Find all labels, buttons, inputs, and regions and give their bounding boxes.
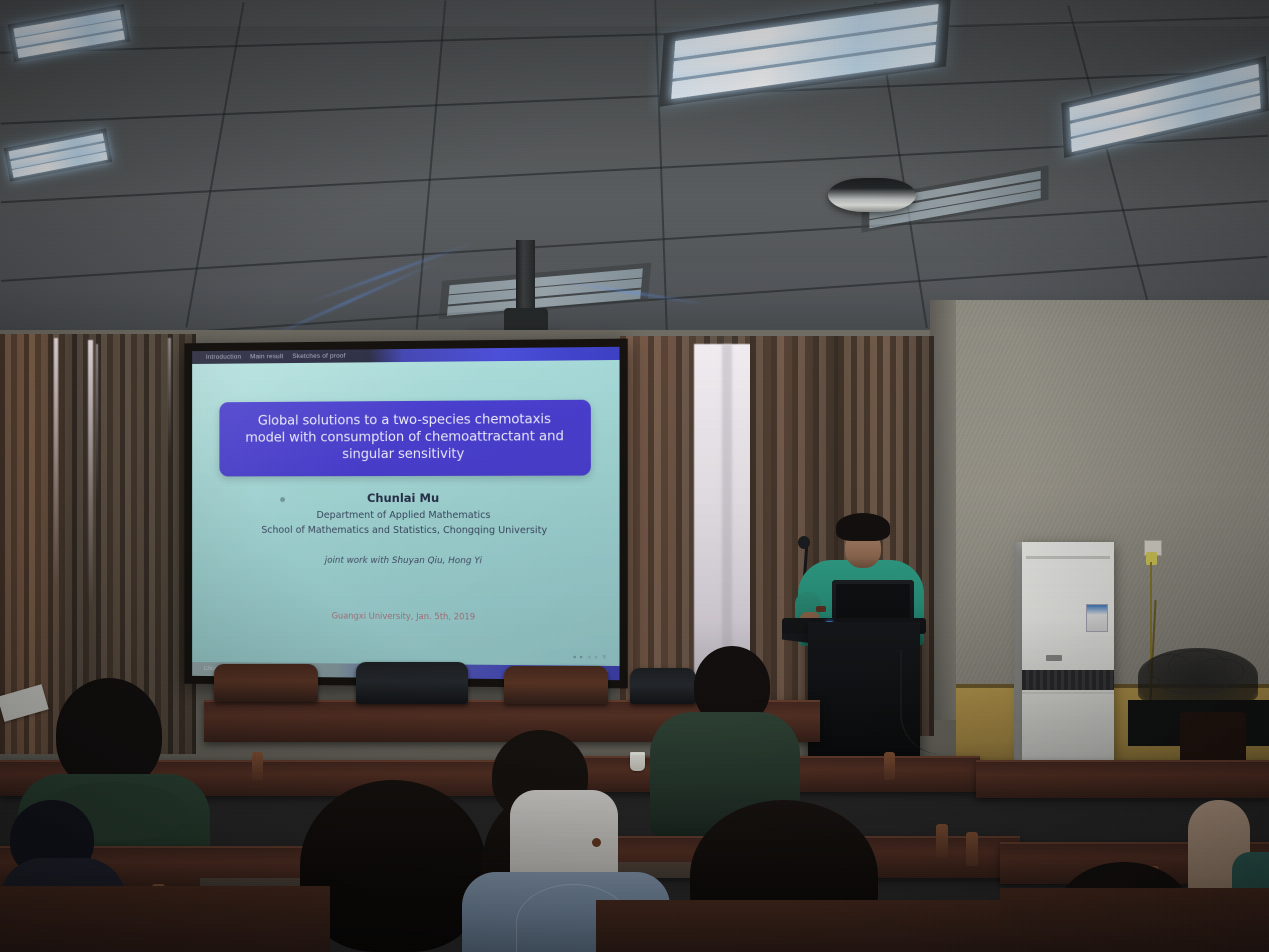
air-conditioner-grille [1022, 670, 1114, 690]
air-conditioner-logo [1046, 655, 1062, 661]
desk-post [966, 832, 978, 866]
laptop-screen [836, 584, 910, 622]
cable-bundle [1138, 648, 1258, 704]
projector-mount-pole [516, 240, 535, 316]
sheer-curtain-fold [722, 344, 732, 696]
lecture-hall-photo: Introduction Main result Sketches of pro… [0, 0, 1269, 952]
podium-cable [900, 650, 962, 754]
projection-screen: Introduction Main result Sketches of pro… [192, 347, 619, 680]
paper-cup [630, 752, 645, 771]
wristwatch [816, 606, 826, 612]
desk-panel [1000, 888, 1269, 952]
air-conditioner-seam [1026, 556, 1110, 559]
auditorium-seat [504, 666, 608, 704]
collar-button [592, 838, 601, 847]
energy-label [1086, 604, 1108, 632]
desk-post [884, 752, 895, 780]
smoke-detector-dome [828, 178, 916, 212]
lecture-hall-desk [976, 760, 1269, 798]
air-conditioner-panel-seam [1022, 692, 1114, 694]
desk-panel [0, 886, 330, 952]
desk-panel [596, 900, 1016, 952]
presenter-hair [836, 513, 890, 541]
screen-glare [192, 347, 619, 680]
desk-post [936, 824, 948, 858]
auditorium-seat [214, 664, 318, 702]
microphone-icon [798, 536, 810, 549]
air-conditioner [1022, 542, 1114, 760]
auditorium-seat [630, 668, 696, 704]
desk-post [252, 752, 263, 780]
auditorium-seat [356, 662, 468, 704]
projection-screen-frame: Introduction Main result Sketches of pro… [184, 339, 627, 689]
